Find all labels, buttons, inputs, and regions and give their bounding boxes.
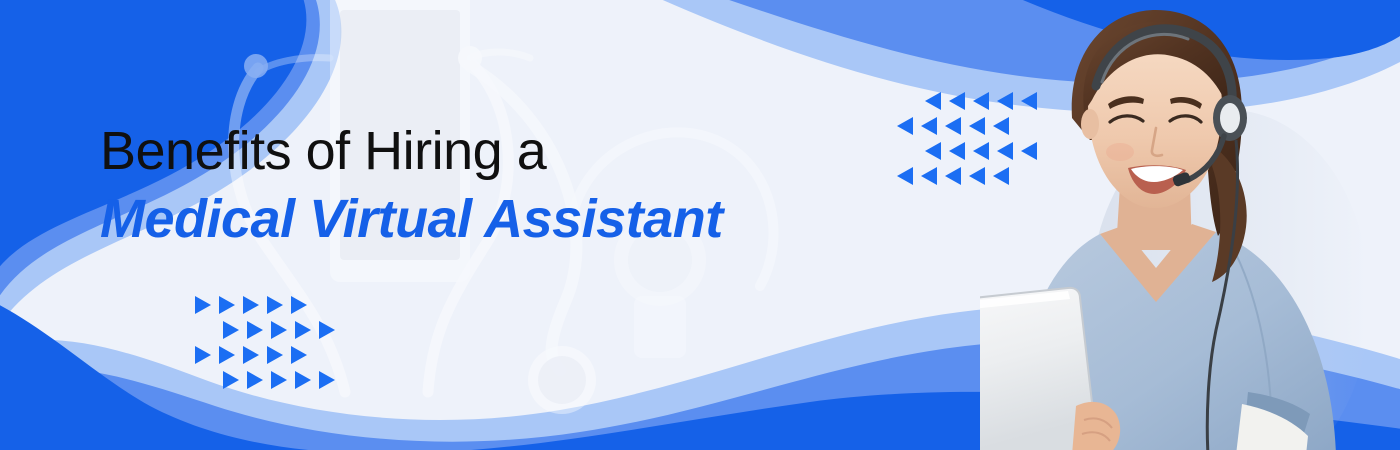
triangle-right-icon [243,296,259,314]
triangle-left-icon [921,167,937,185]
triangle-right-icon [319,371,335,389]
triangle-pattern-bottom-left [195,292,343,392]
triangle-right-icon [247,371,263,389]
triangle-right-icon [195,296,211,314]
triangle-right-icon [219,346,235,364]
triangle-left-icon [949,92,965,110]
cheek-highlight [1106,143,1134,161]
triangle-right-icon [271,321,287,339]
triangle-right-icon [291,296,307,314]
medical-assistant-photo [980,0,1400,450]
triangle-right-icon [195,346,211,364]
triangle-left-icon [925,142,941,160]
triangle-left-icon [949,142,965,160]
banner-headline: Benefits of Hiring a Medical Virtual Ass… [100,118,723,252]
headline-line-2: Medical Virtual Assistant [100,186,723,252]
promotional-banner: Benefits of Hiring a Medical Virtual Ass… [0,0,1400,450]
headset-ear-pad [1220,103,1240,133]
triangle-row [195,292,343,317]
triangle-right-icon [319,321,335,339]
triangle-right-icon [291,346,307,364]
instrument-body-watermark [634,296,686,358]
triangle-right-icon [271,371,287,389]
triangle-right-icon [223,321,239,339]
ear [1081,109,1099,139]
triangle-left-icon [897,167,913,185]
triangle-row [195,342,343,367]
triangle-row [223,317,343,342]
triangle-right-icon [267,346,283,364]
triangle-right-icon [267,296,283,314]
triangle-right-icon [219,296,235,314]
triangle-right-icon [243,346,259,364]
triangle-row [223,367,343,392]
cable2-watermark [470,52,530,58]
triangle-right-icon [247,321,263,339]
headline-line-1: Benefits of Hiring a [100,118,723,184]
triangle-left-icon [945,167,961,185]
triangle-right-icon [223,371,239,389]
triangle-right-icon [295,321,311,339]
triangle-left-icon [921,117,937,135]
stethoscope-diaphragm-watermark [538,356,586,404]
triangle-right-icon [295,371,311,389]
triangle-left-icon [945,117,961,135]
triangle-left-icon [897,117,913,135]
triangle-left-icon [925,92,941,110]
cable-watermark [258,58,330,72]
